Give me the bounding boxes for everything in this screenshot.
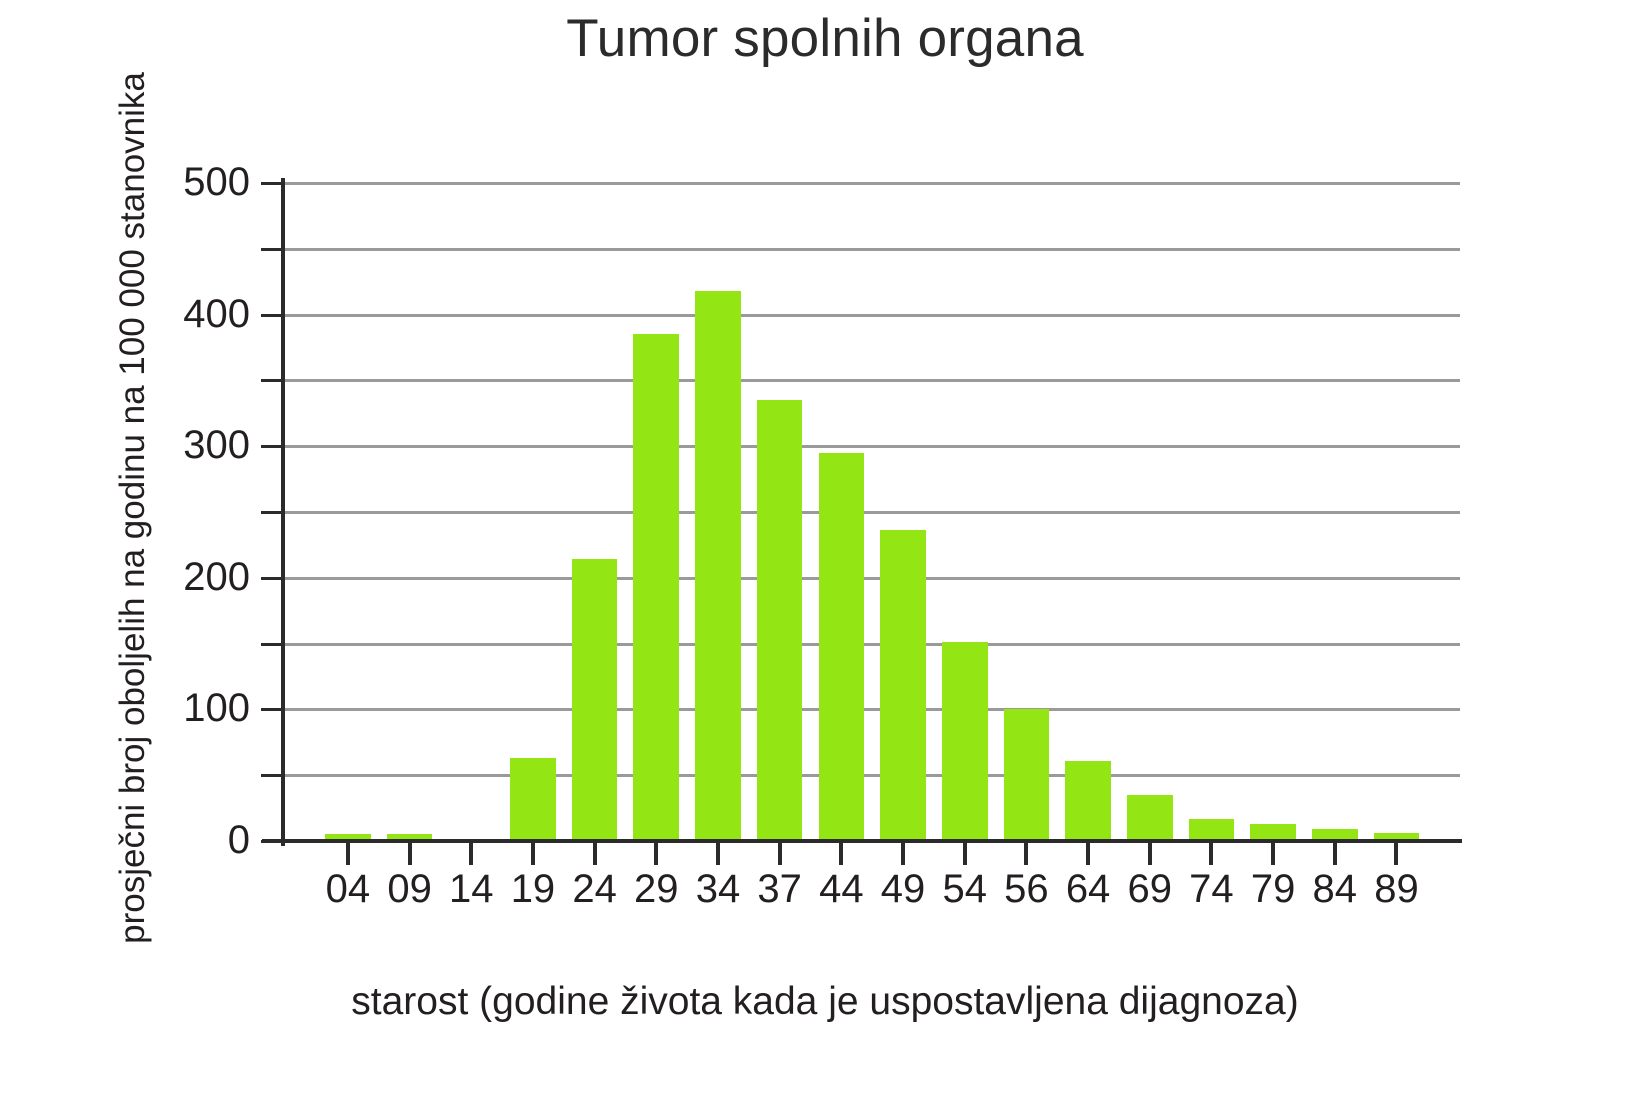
y-axis-major-tick (261, 182, 283, 185)
y-axis-tick-label: 200 (140, 557, 250, 597)
bar (572, 559, 618, 841)
y-axis-minor-tick (261, 511, 283, 514)
bar (880, 530, 926, 841)
x-axis-tick (346, 843, 350, 865)
x-axis-tick (1209, 843, 1213, 865)
bar (1189, 819, 1235, 841)
bar (757, 400, 803, 841)
y-axis-tick-label: 0 (140, 820, 250, 860)
chart-figure: Tumor spolnih organa prosječni broj obol… (0, 0, 1650, 1101)
x-axis-tick (593, 843, 597, 865)
bar (1065, 761, 1111, 841)
x-axis-tick (1271, 843, 1275, 865)
x-axis-title: starost (godine života kada je uspostavl… (0, 980, 1650, 1024)
y-axis-tick-label: 500 (140, 162, 250, 202)
bar (1004, 709, 1050, 841)
bar (819, 453, 865, 841)
x-axis-tick (531, 843, 535, 865)
x-axis-tick (963, 843, 967, 865)
x-axis-tick (1024, 843, 1028, 865)
y-axis-minor-tick (261, 643, 283, 646)
y-axis-major-tick (261, 314, 283, 317)
bar (1127, 795, 1173, 841)
bar (510, 758, 556, 841)
bar (633, 334, 679, 841)
bar-series (285, 183, 1460, 841)
x-axis-tick (1086, 843, 1090, 865)
y-axis-tick-label: 300 (140, 425, 250, 465)
x-axis-tick (839, 843, 843, 865)
x-axis-tick (716, 843, 720, 865)
y-axis-minor-tick (261, 774, 283, 777)
x-axis-tick (469, 843, 473, 865)
x-axis-line (262, 839, 1462, 843)
y-axis-minor-tick (261, 379, 283, 382)
y-axis-major-tick (261, 840, 283, 843)
y-axis-minor-tick (261, 248, 283, 251)
y-axis-tick-labels: 0100200300400500 (140, 0, 250, 1101)
x-axis-tick (654, 843, 658, 865)
y-axis-tick-label: 400 (140, 294, 250, 334)
bar (942, 642, 988, 841)
y-axis-major-tick (261, 708, 283, 711)
plot-area (285, 183, 1460, 841)
x-axis-tick (1148, 843, 1152, 865)
x-axis-tick (778, 843, 782, 865)
y-axis-major-tick (261, 577, 283, 580)
x-axis-tick (408, 843, 412, 865)
y-axis-major-tick (261, 445, 283, 448)
y-axis-tick-label: 100 (140, 688, 250, 728)
x-axis-tick-label: 89 (1351, 867, 1441, 911)
x-axis-tick (1333, 843, 1337, 865)
bar (695, 291, 741, 841)
x-axis-tick (1394, 843, 1398, 865)
x-axis-tick (901, 843, 905, 865)
